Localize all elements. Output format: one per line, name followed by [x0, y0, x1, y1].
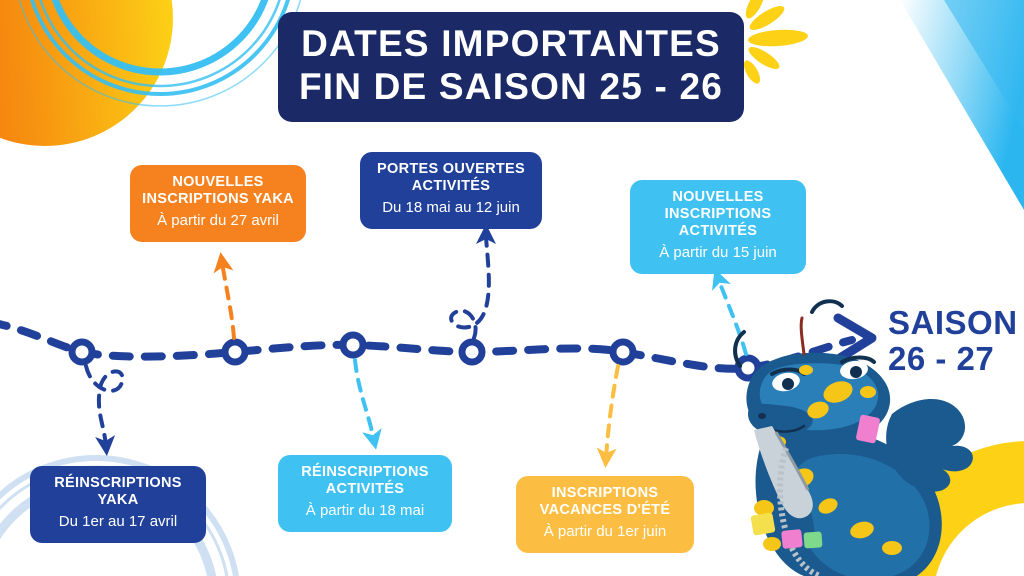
card-date: Du 1er au 17 avril [42, 512, 194, 532]
card-date: Du 18 mai au 12 juin [372, 198, 530, 218]
card-header-line-1: PORTES OUVERTES [372, 161, 530, 178]
card-header-line-1: RÉINSCRIPTIONS [42, 475, 194, 492]
card-date: À partir du 1er juin [528, 522, 682, 542]
card-date: À partir du 27 avril [142, 211, 294, 231]
card-header-line-1: INSCRIPTIONS [528, 485, 682, 502]
card-header-line-2: YAKA [42, 492, 194, 509]
card-header-line-2: ACTIVITÉS [372, 178, 530, 195]
infographic-canvas: DATES IMPORTANTES FIN DE SAISON 25 - 26 … [0, 0, 1024, 576]
season-label: SAISON 26 - 27 [888, 305, 1018, 377]
card-header-line-2: INSCRIPTIONS YAKA [142, 191, 294, 208]
card-header-line-1: NOUVELLES [642, 189, 794, 206]
card-nouvelles-inscriptions-yaka[interactable]: NOUVELLES INSCRIPTIONS YAKA À partir du … [130, 165, 306, 242]
card-header-line-1: NOUVELLES [142, 174, 294, 191]
card-header-line-1: RÉINSCRIPTIONS [290, 464, 440, 481]
card-nouvelles-inscriptions-activites[interactable]: NOUVELLES INSCRIPTIONS ACTIVITÉS À parti… [630, 180, 806, 274]
title-line-1: DATES IMPORTANTES [278, 22, 744, 65]
card-reinscriptions-yaka[interactable]: RÉINSCRIPTIONS YAKA Du 1er au 17 avril [30, 466, 206, 543]
page-title: DATES IMPORTANTES FIN DE SAISON 25 - 26 [278, 12, 744, 122]
card-date: À partir du 18 mai [290, 501, 440, 521]
card-header-line-2: INSCRIPTIONS [642, 206, 794, 223]
card-header-line-3: ACTIVITÉS [642, 223, 794, 240]
card-reinscriptions-activites[interactable]: RÉINSCRIPTIONS ACTIVITÉS À partir du 18 … [278, 455, 452, 532]
card-header-line-2: VACANCES D'ÉTÉ [528, 502, 682, 519]
season-label-line-2: 26 - 27 [888, 341, 1018, 377]
card-portes-ouvertes-activites[interactable]: PORTES OUVERTES ACTIVITÉS Du 18 mai au 1… [360, 152, 542, 229]
card-date: À partir du 15 juin [642, 243, 794, 263]
card-header-line-2: ACTIVITÉS [290, 481, 440, 498]
card-inscriptions-vacances-ete[interactable]: INSCRIPTIONS VACANCES D'ÉTÉ À partir du … [516, 476, 694, 553]
season-label-line-1: SAISON [888, 305, 1018, 341]
title-line-2: FIN DE SAISON 25 - 26 [278, 65, 744, 108]
